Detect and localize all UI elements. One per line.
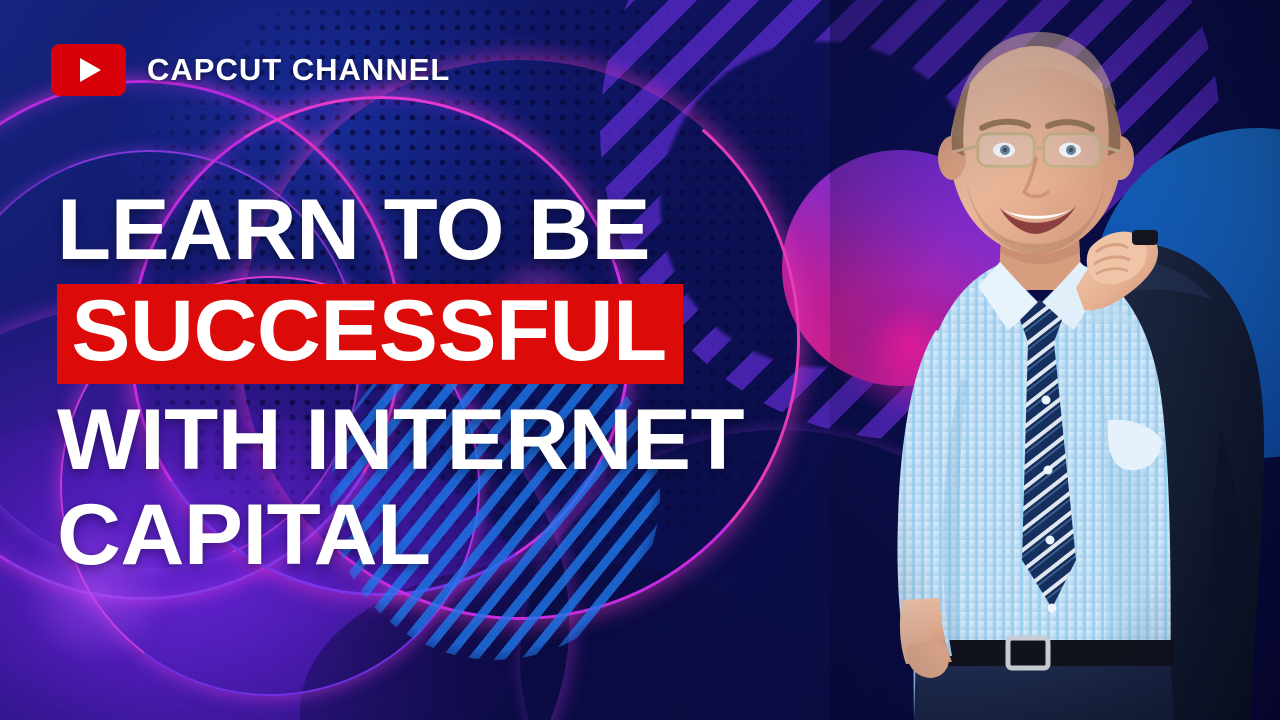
play-triangle-icon (80, 58, 101, 82)
wristwatch (1132, 230, 1158, 245)
channel-name-label: CAPCUT CHANNEL (147, 52, 450, 88)
headline-line-1: LEARN TO BE (57, 188, 922, 272)
channel-badge[interactable]: CAPCUT CHANNEL (51, 44, 450, 96)
thumbnail-canvas: CAPCUT CHANNEL LEARN TO BE SUCCESSFUL WI… (0, 0, 1280, 720)
headline-line-4: CAPITAL (57, 493, 922, 577)
headline-line-2-wrap: SUCCESSFUL (57, 284, 897, 384)
shirt-button (1044, 466, 1053, 475)
youtube-play-icon[interactable] (51, 44, 126, 96)
headline-block: LEARN TO BE SUCCESSFUL WITH INTERNET CAP… (57, 188, 897, 577)
shirt-button (1048, 604, 1057, 613)
head (938, 32, 1134, 254)
shirt-button (1042, 396, 1051, 405)
headline-line-2-highlight: SUCCESSFUL (57, 284, 683, 384)
hand-left (906, 642, 949, 678)
subject-figure (840, 0, 1280, 720)
shirt-button (1046, 536, 1055, 545)
headline-line-3: WITH INTERNET (57, 398, 922, 482)
businessman-illustration (840, 0, 1280, 720)
belt (916, 640, 1174, 666)
